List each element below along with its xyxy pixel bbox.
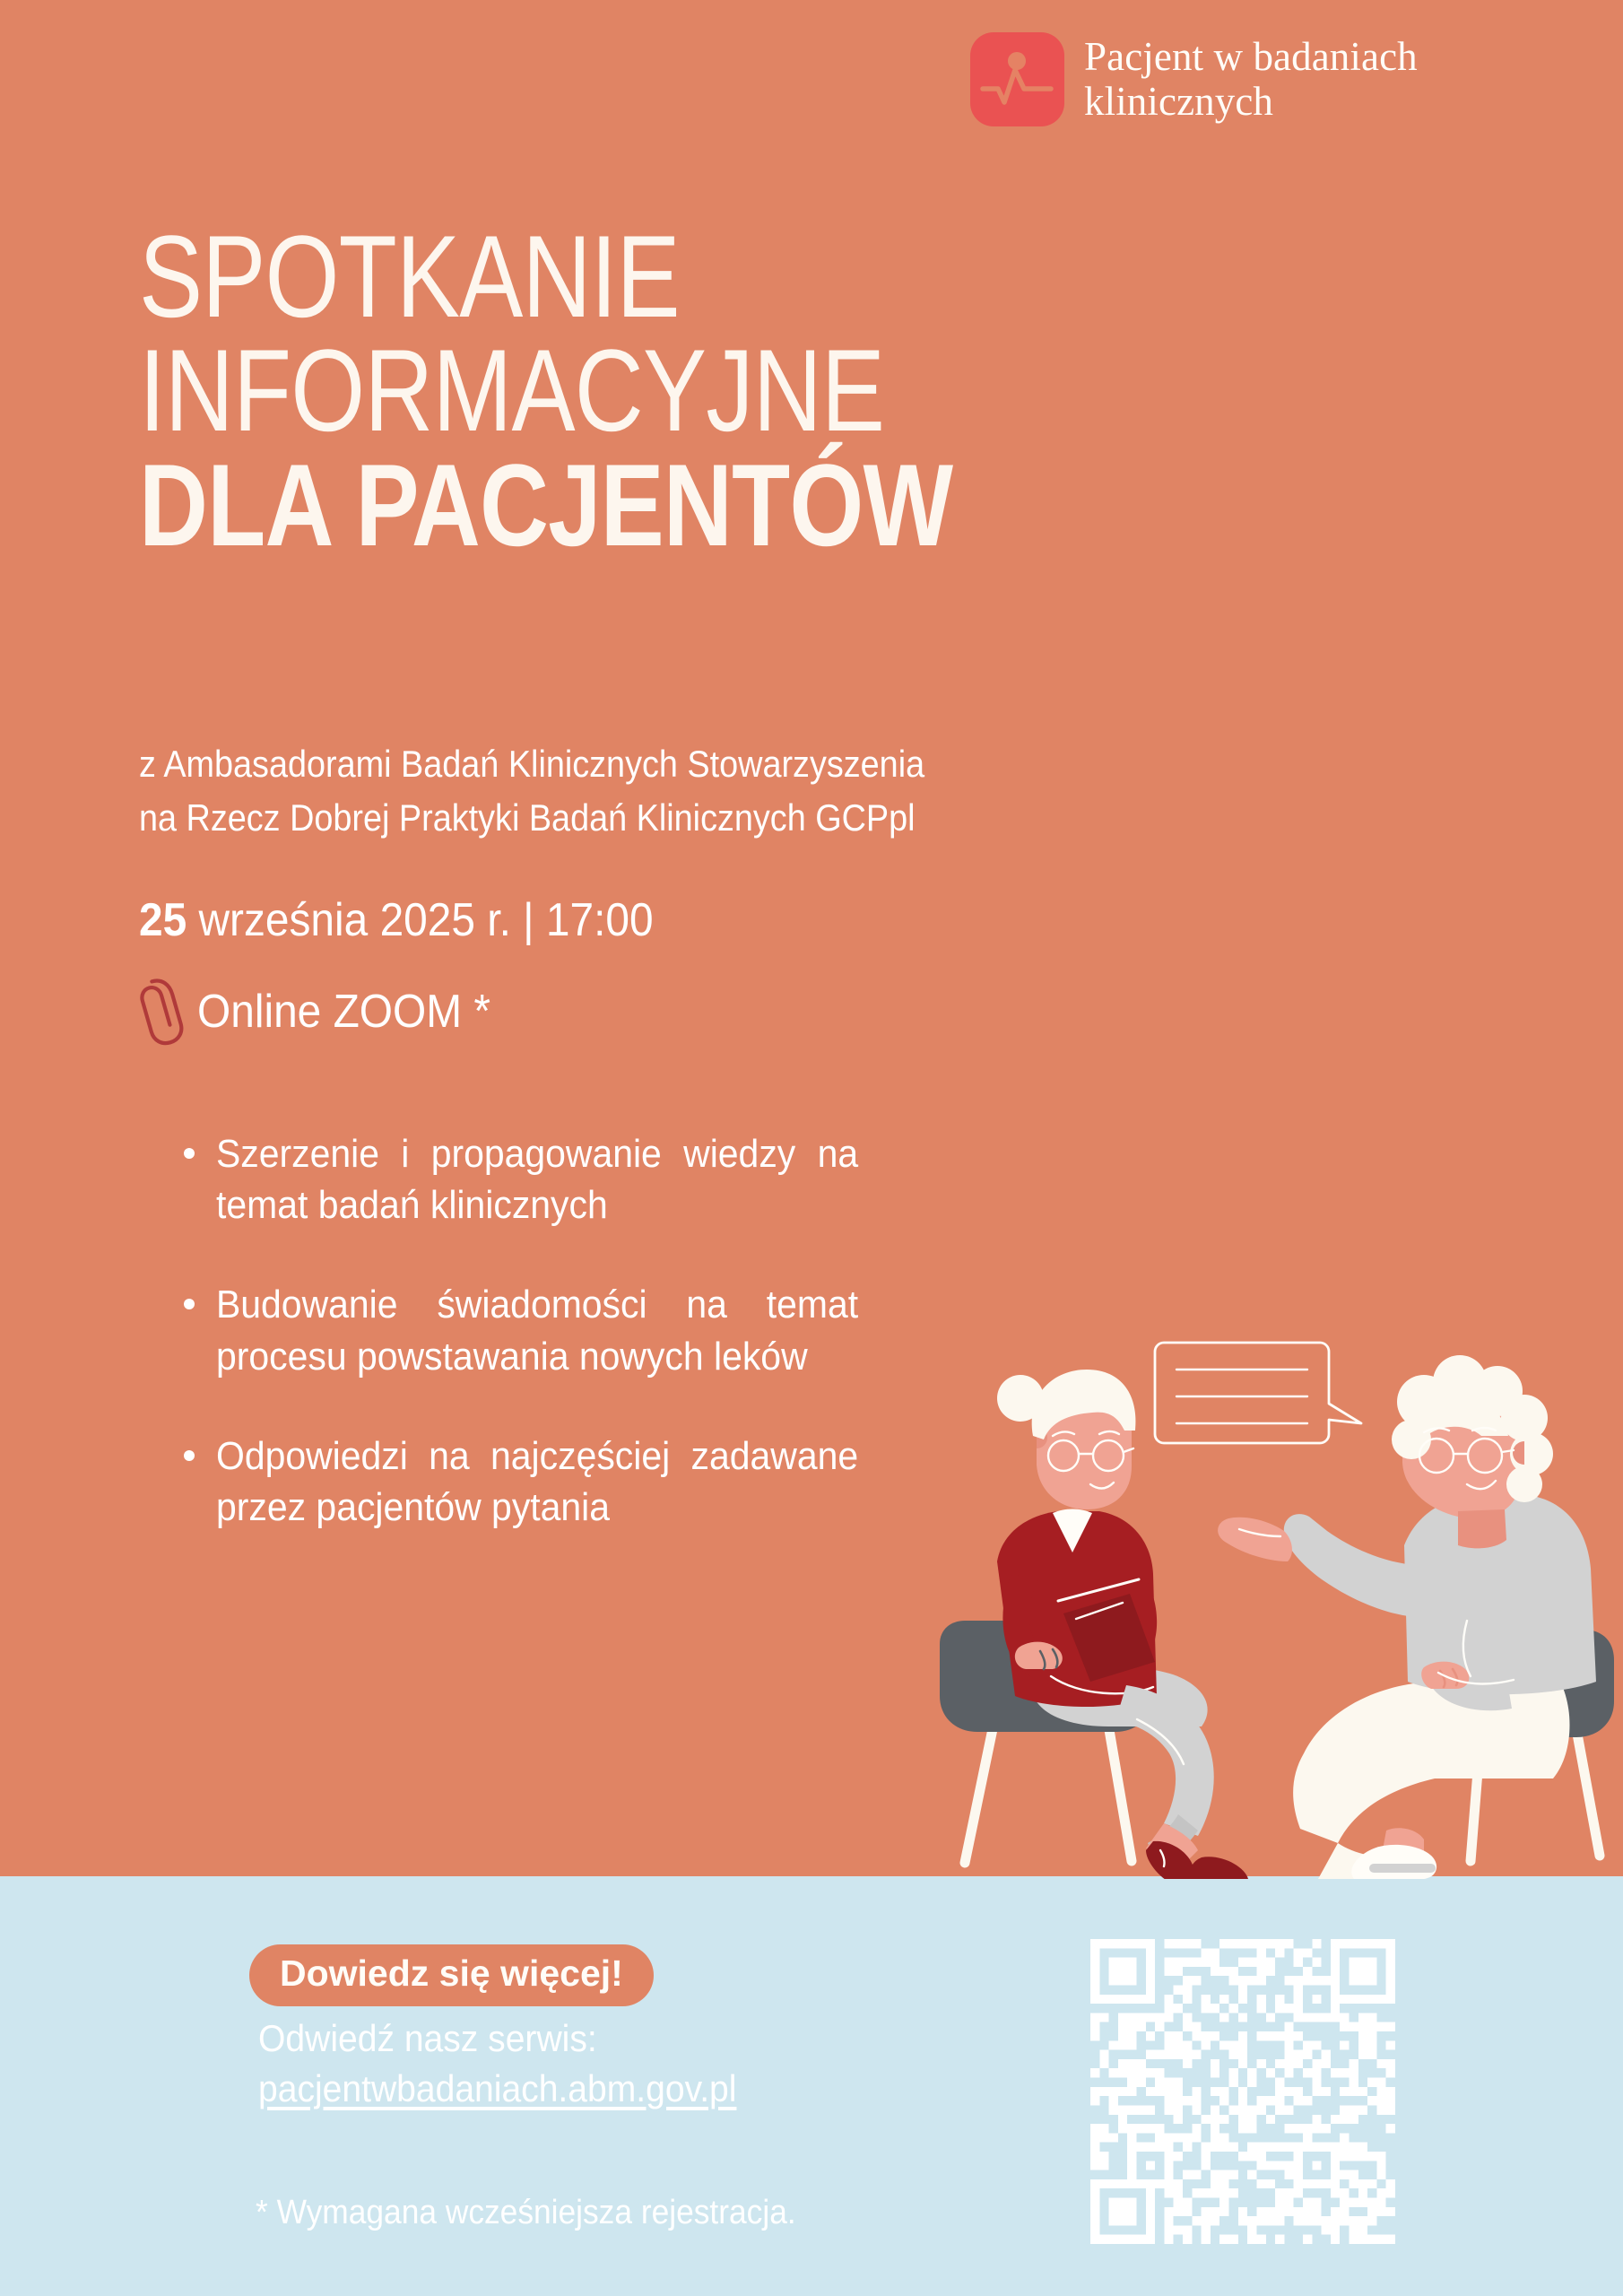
page-title: SPOTKANIE INFORMACYJNE DLA PACJENTÓW — [139, 220, 1439, 562]
bullet-dot-icon — [184, 1450, 195, 1461]
list-item: Budowanie świadomości na temat procesu p… — [184, 1279, 928, 1381]
brand-name: Pacjent w badaniach klinicznych — [1084, 32, 1418, 125]
event-mode-row: Online ZOOM * — [133, 973, 516, 1050]
brand-logo: Pacjent w badaniach klinicznych — [970, 32, 1418, 126]
registration-footnote: * Wymagana wcześniejsza rejestracja. — [256, 2196, 796, 2230]
left-person — [940, 1370, 1248, 1879]
qr-code[interactable] — [1090, 1939, 1395, 2244]
speech-bubble-icon — [1155, 1343, 1361, 1443]
headline-line-3: DLA PACJENTÓW — [139, 448, 1205, 562]
paperclip-icon — [133, 973, 188, 1050]
bullet-dot-icon — [184, 1299, 195, 1309]
event-mode-label: Online ZOOM * — [197, 988, 490, 1035]
bullet-dot-icon — [184, 1148, 195, 1159]
list-item-label: Budowanie świadomości na temat procesu p… — [216, 1279, 858, 1381]
list-item-label: Szerzenie i propagowanie wiedzy na temat… — [216, 1128, 858, 1231]
visit-label: Odwiedź nasz serwis: — [258, 2020, 597, 2057]
right-person — [1218, 1355, 1614, 1879]
subtitle: z Ambasadorami Badań Klinicznych Stowarz… — [139, 737, 1188, 844]
event-day: 25 — [139, 894, 187, 946]
learn-more-badge[interactable]: Dowiedz się więcej! — [249, 1944, 654, 2006]
list-item-label: Odpowiedzi na najczęściej zadawane przez… — [216, 1431, 858, 1533]
list-item: Szerzenie i propagowanie wiedzy na temat… — [184, 1128, 928, 1231]
benefit-list: Szerzenie i propagowanie wiedzy na temat… — [184, 1128, 928, 1533]
poster: Pacjent w badaniach klinicznych SPOTKANI… — [0, 0, 1623, 2296]
website-link[interactable]: pacjentwbadaniach.abm.gov.pl — [258, 2070, 736, 2108]
two-seated-people-conversation-illustration: .sk{fill:#F0A393}.sk2{fill:#E8917F} .hai… — [933, 1305, 1623, 1879]
heartbeat-person-icon — [970, 32, 1064, 126]
headline-line-2: INFORMACYJNE — [139, 334, 1205, 448]
event-datetime: 25 września 2025 r. | 17:00 — [139, 897, 654, 944]
event-date-rest: września 2025 r. | 17:00 — [187, 894, 653, 946]
headline-line-1: SPOTKANIE — [139, 220, 1205, 334]
list-item: Odpowiedzi na najczęściej zadawane przez… — [184, 1431, 928, 1533]
